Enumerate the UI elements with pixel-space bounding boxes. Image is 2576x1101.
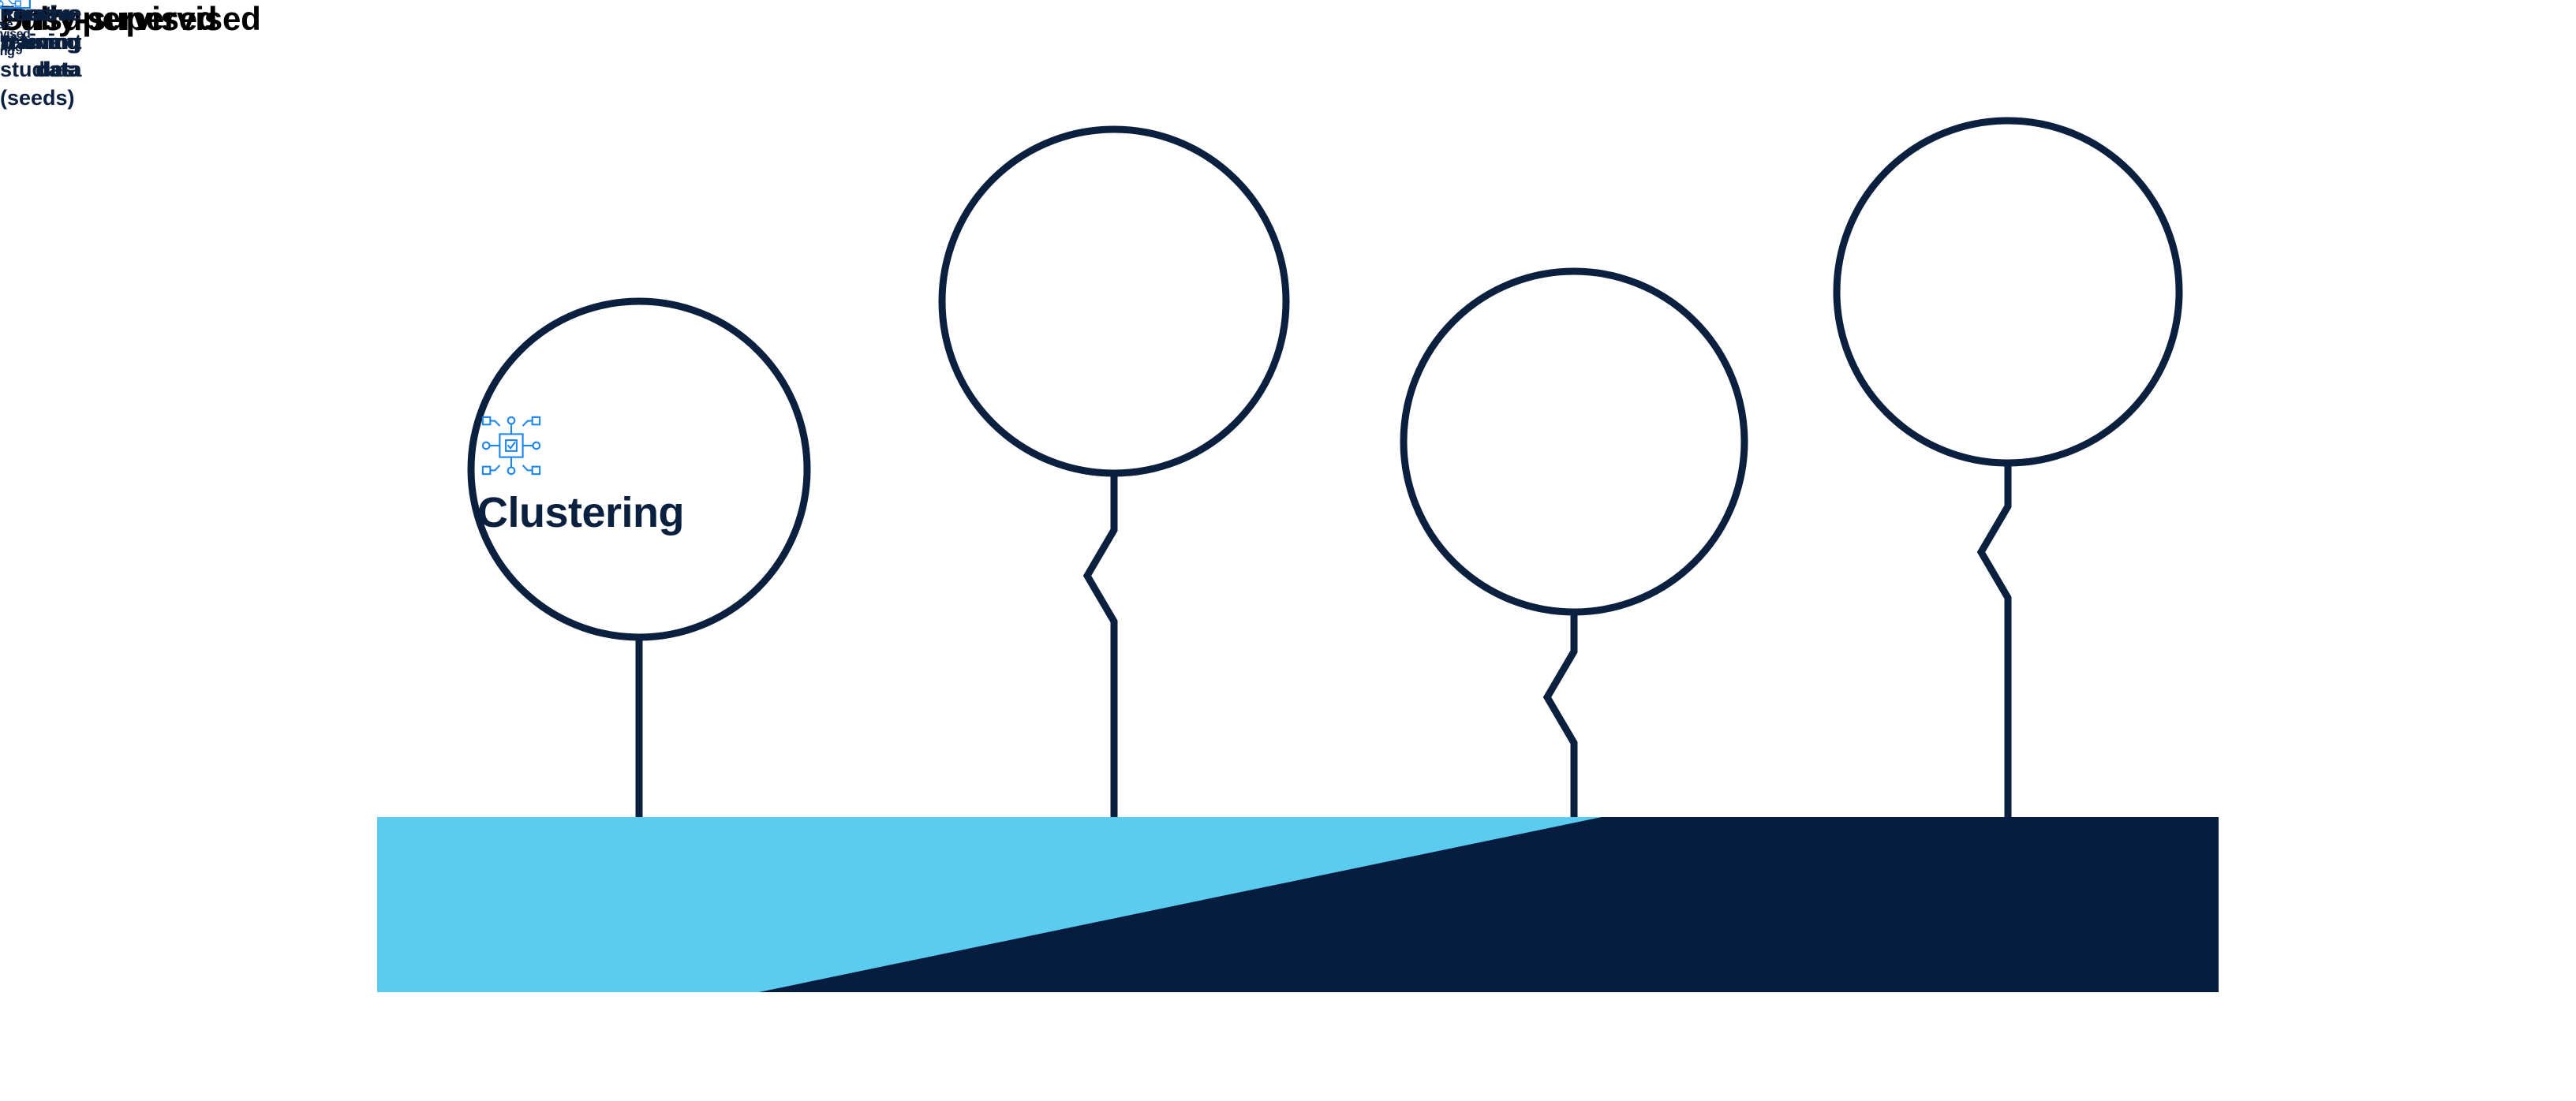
connector-layer [0,0,2576,1101]
node-label-clustering: Clustering [477,491,684,536]
data-sort-icon [0,0,32,8]
chip-checkbox-icon [477,412,545,480]
node-clustering[interactable]: Clustering [471,301,807,637]
diagram-canvas: Unsupervised Fully-supervised Known rele… [0,0,2576,1101]
node-label-passive-machine-learning: Passive machine learning [0,19,17,59]
